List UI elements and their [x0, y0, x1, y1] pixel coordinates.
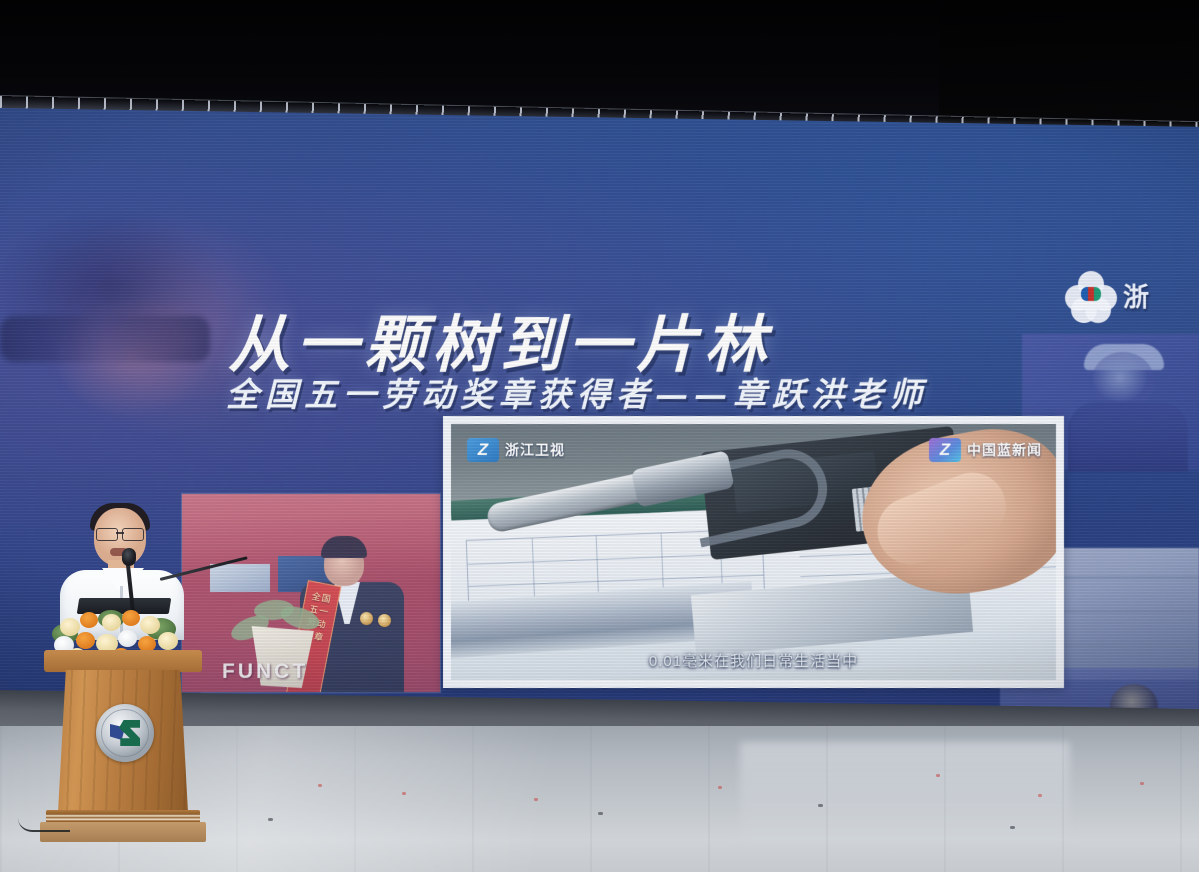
- glasses-lens: [96, 528, 118, 541]
- watermark-zhejiang-tv: Z 浙江卫视: [467, 438, 565, 462]
- page-subtitle: 全国五一劳动奖章获得者——章跃洪老师: [226, 368, 928, 416]
- watermark-china-blue-news: Z 中国蓝新闻: [929, 438, 1042, 462]
- podium-top-surface: [44, 650, 202, 672]
- stage-photograph: 从一颗树到一片林 全国五一劳动奖章获得者——章跃洪老师 “99分就是不及格品” …: [0, 0, 1199, 872]
- podium-cable: [18, 818, 70, 832]
- speaker-glasses: [96, 528, 144, 539]
- video-frame: Z 浙江卫视 Z 中国蓝新闻 0.01毫米在我们日常生活当中: [451, 424, 1056, 680]
- blossom-emblem-icon: [1065, 271, 1117, 319]
- emblem-mark-icon: [110, 720, 140, 746]
- podium: [50, 650, 196, 840]
- video-subtitle: 0.01毫米在我们日常生活当中: [451, 650, 1056, 671]
- brand-logo: 浙: [1065, 266, 1193, 324]
- emblem-core: [1081, 287, 1101, 301]
- background-portrait-glasses: [0, 316, 210, 362]
- floor-reflection: [740, 742, 1070, 850]
- video-panel: Z 浙江卫视 Z 中国蓝新闻 0.01毫米在我们日常生活当中: [443, 416, 1064, 688]
- watermark-left-text: 浙江卫视: [505, 440, 565, 460]
- worker-head: [1092, 352, 1154, 408]
- worker-body: [1068, 402, 1188, 472]
- microphone-icon: [122, 548, 136, 566]
- watermark-right-text: 中国蓝新闻: [967, 440, 1042, 460]
- brand-name: 浙: [1123, 277, 1151, 314]
- school-emblem: [96, 704, 154, 762]
- award-ceremony-photo: 全国五一劳动奖章 FUNCT: [182, 494, 440, 692]
- zhejiang-tv-logo-icon: Z: [467, 438, 499, 462]
- photo-color-tint: [182, 494, 440, 692]
- china-blue-news-logo-icon: Z: [929, 438, 961, 462]
- glasses-lens: [122, 528, 144, 541]
